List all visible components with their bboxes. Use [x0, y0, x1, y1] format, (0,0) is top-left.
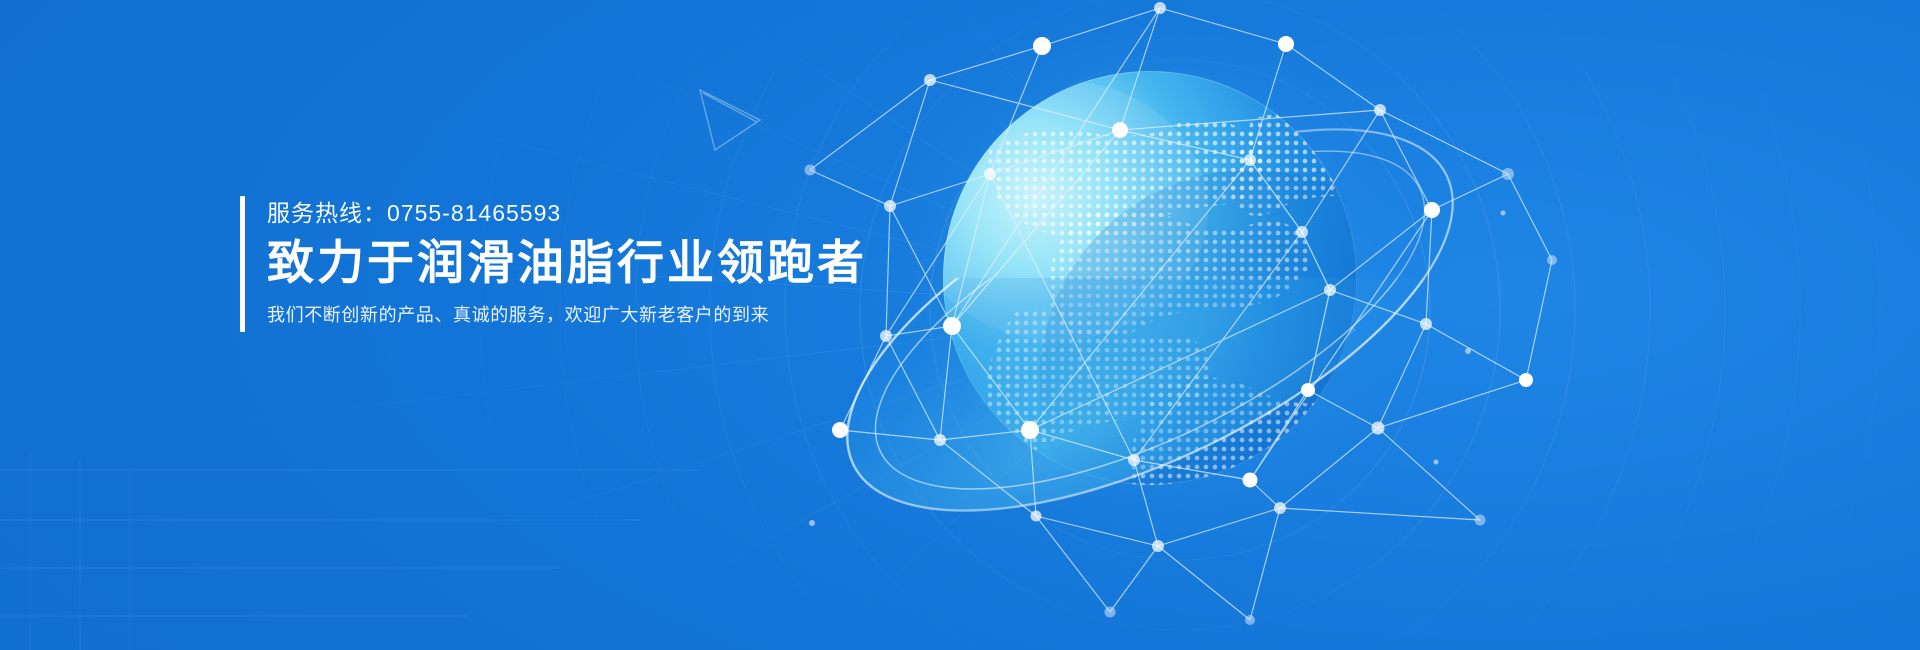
wireframe-triangle-accent [700, 90, 760, 150]
background-specks [809, 183, 1506, 526]
banner-text-lines: 服务热线：0755-81465593 致力于润滑油脂行业领跑者 我们不断创新的产… [267, 196, 867, 332]
accent-bar [240, 196, 245, 332]
wireframe-triangle-accent-right [1300, 300, 1355, 362]
banner-headline: 致力于润滑油脂行业领跑者 [267, 235, 867, 290]
service-hotline: 服务热线：0755-81465593 [267, 198, 867, 229]
banner-text-block: 服务热线：0755-81465593 致力于润滑油脂行业领跑者 我们不断创新的产… [240, 196, 867, 332]
hero-banner: 服务热线：0755-81465593 致力于润滑油脂行业领跑者 我们不断创新的产… [0, 0, 1920, 650]
banner-subtitle: 我们不断创新的产品、真诚的服务，欢迎广大新老客户的到来 [267, 303, 867, 328]
